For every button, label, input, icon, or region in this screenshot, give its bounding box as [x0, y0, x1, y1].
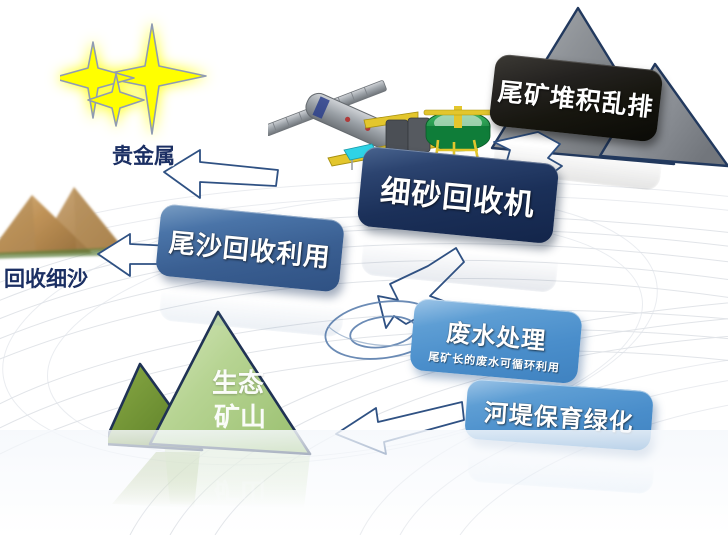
diagram-canvas: 生态 矿山 矿山 尾矿堆积乱排 细砂回收机 尾沙回收利用 废水处理 尾矿长的废水… [0, 0, 728, 535]
node-river-bank-greening[interactable]: 河堤保育绿化 [464, 379, 654, 452]
eco-mine-line1: 生态 [212, 368, 264, 399]
node-label: 废水处理 [445, 312, 548, 356]
eco-mine-line2: 矿山 [214, 402, 266, 433]
node-label: 细砂回收机 [379, 166, 538, 225]
eco-mine-mountains: 生态 矿山 矿山 [108, 308, 368, 508]
node-label: 尾矿堆积乱排 [496, 72, 655, 124]
node-label: 尾沙回收利用 [168, 222, 333, 274]
caption-recovered-fine-sand: 回收细沙 [4, 263, 88, 293]
svg-text:矿山: 矿山 [214, 475, 266, 506]
precious-metal-stars [60, 22, 210, 142]
node-waste-water-treatment[interactable]: 废水处理 尾矿长的废水可循环利用 [409, 298, 583, 384]
caption-precious-metal: 贵金属 [112, 140, 175, 170]
node-label: 河堤保育绿化 [483, 392, 635, 437]
arrow-machine-to-metal [160, 148, 282, 206]
